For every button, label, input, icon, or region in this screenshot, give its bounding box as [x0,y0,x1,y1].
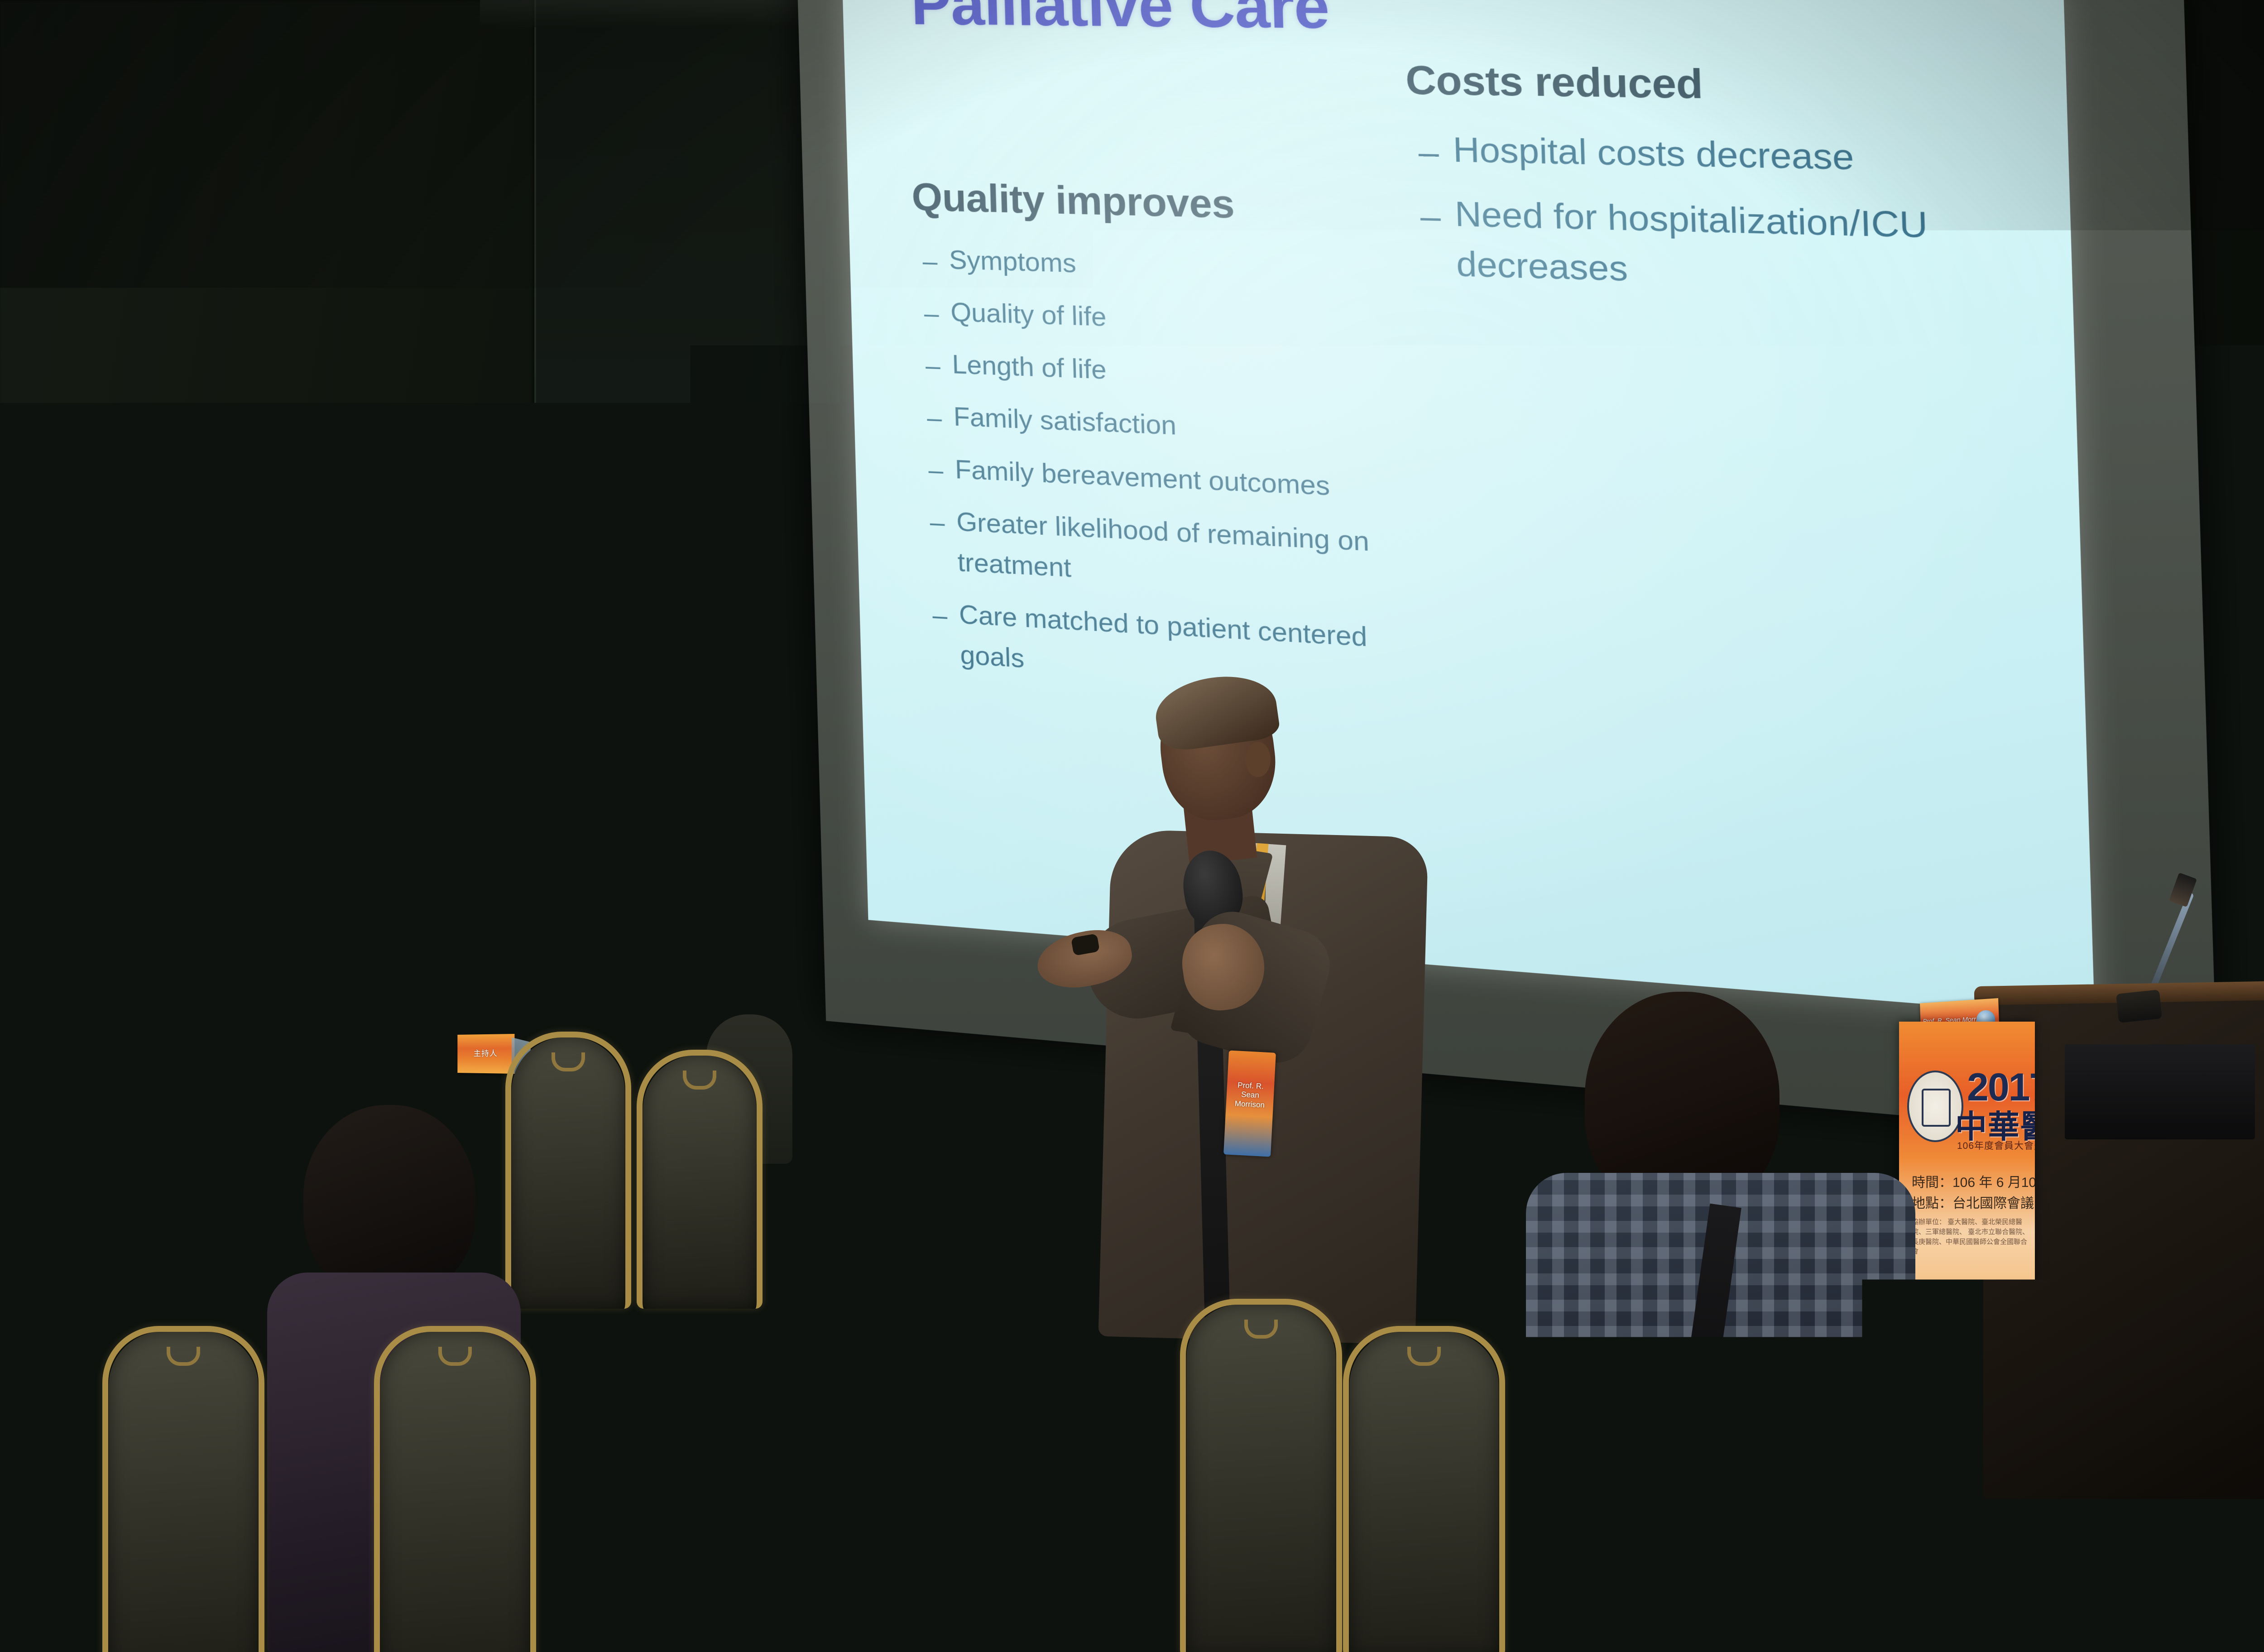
bullet-item: –Need for hospitalization/ICU decreases [1454,189,1965,304]
bullet-text: Quality of life [950,297,1107,332]
bullet-text: Need for hospitalization/ICU decreases [1454,194,1928,289]
bullet-list-costs: –Hospital costs decrease –Need for hospi… [1407,124,1966,303]
bullet-dash: – [922,241,938,282]
chair [380,1331,530,1652]
bullet-dash: – [930,502,945,543]
slide-title: Palliative Care [910,0,1330,42]
bullet-dash: – [928,450,944,491]
bullet-item: –Family satisfaction [953,397,1402,456]
conference-photo-scene: Palliative Care Quality improves –Sympto… [0,0,2264,1652]
chair [109,1331,258,1652]
podium-laptop [2065,1044,2255,1139]
speaker-badge-name: Prof. R. Sean Morrison [1228,1081,1271,1110]
bullet-item: –Greater likelihood of remaining on trea… [956,502,1406,606]
banner-date: 時間：106 年 6 月10日 [1912,1171,2035,1191]
bullet-text: Symptoms [949,245,1076,279]
attendee-hair [806,1119,1019,1399]
attendee-hand [1757,1476,1843,1535]
bullet-item: –Length of life [951,345,1400,402]
bullet-dash: – [1420,191,1441,241]
chair [643,1055,756,1309]
bullet-dash: – [925,346,941,386]
bullet-item: –Symptoms [949,240,1397,293]
bullet-dash: – [932,595,948,636]
bullet-text: Length of life [952,350,1107,385]
head-table-name-card: 主持人 [457,1034,514,1074]
banner-fine-print: 協辦單位： 臺大醫院、臺北榮民總醫院、三軍總醫院、 臺北市立聯合醫院、長庚醫院、… [1912,1217,2029,1257]
presentation-slide: Palliative Care Quality improves –Sympto… [842,0,2095,1018]
slide-column-quality: Quality improves –Symptoms –Quality of l… [911,174,1409,715]
speaker-presenter: Prof. R. Sean Morrison [1050,684,1440,1340]
banner-venue: 地點：台北國際會議中心 [1912,1192,2035,1212]
bullet-item: –Family bereavement outcomes [955,449,1403,510]
attendee-right [1517,992,1924,1652]
wall-seam-left [534,0,536,1123]
column-heading-costs: Costs reduced [1405,57,1960,112]
podium-microphone-base [2116,989,2162,1023]
bullet-text: Care matched to patient centered goals [959,600,1367,674]
bullet-list-quality: –Symptoms –Quality of life –Length of li… [913,239,1409,702]
chair [1186,1304,1336,1652]
speaker-ear [1245,742,1271,777]
slide-column-costs: Costs reduced –Hospital costs decrease –… [1405,57,1966,319]
bullet-dash: – [926,398,942,439]
bullet-text: Hospital costs decrease [1453,130,1855,178]
column-heading-quality: Quality improves [911,174,1395,231]
bullet-item: –Hospital costs decrease [1452,125,1962,185]
attendee-center [743,1037,1087,1652]
bullet-dash: – [1418,127,1439,177]
bullet-text: Family bereavement outcomes [955,454,1330,501]
attendee-head [303,1105,475,1295]
left-wall-panel [0,0,534,1132]
bullet-item: –Quality of life [950,292,1399,347]
bullet-text: Family satisfaction [953,402,1177,441]
flower-arrangement [335,992,471,1078]
banner-subtitle: 106年度會員大會暨聯合學術研討會 [1957,1138,2035,1152]
head-table-name-card-text: 主持人 [461,1047,511,1058]
bullet-text: Greater likelihood of remaining on treat… [956,507,1369,583]
chair [0,1331,104,1652]
chair [1349,1331,1499,1652]
speaker-badge: Prof. R. Sean Morrison [1223,1050,1276,1157]
bullet-dash: – [924,293,940,334]
